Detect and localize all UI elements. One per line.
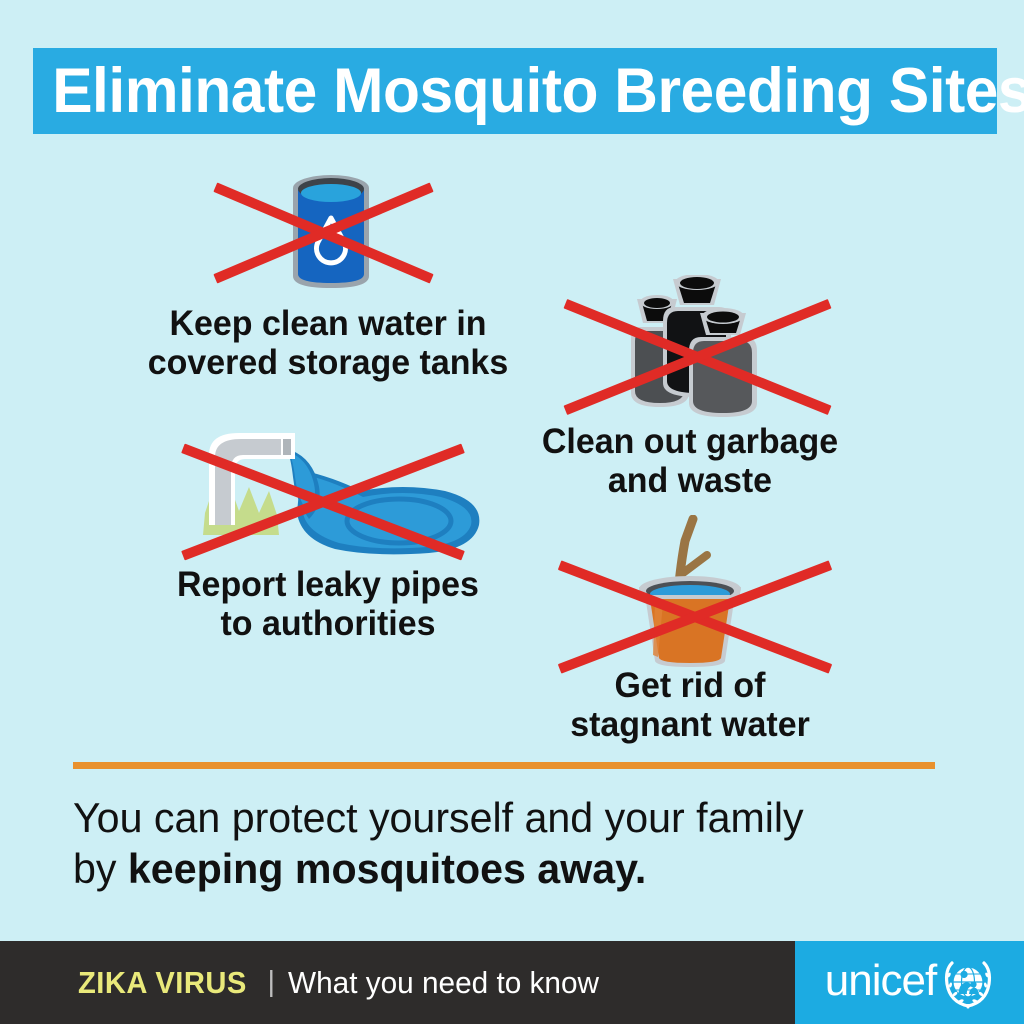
message-line-2-bold: keeping mosquitoes away.: [128, 845, 646, 892]
tip-caption: Keep clean water in covered storage tank…: [134, 304, 522, 382]
unicef-logo[interactable]: unicef: [795, 941, 1024, 1024]
footer-campaign-label: ZIKA VIRUS: [78, 965, 247, 1001]
section-divider: [73, 762, 935, 769]
tip-stagnant-water: Get rid of stagnant water: [490, 515, 890, 744]
page-title: Eliminate Mosquito Breeding Sites: [33, 60, 1024, 123]
footer-tagline: What you need to know: [288, 965, 599, 1001]
infographic-canvas: Eliminate Mosquito Breeding Sites: [0, 0, 1024, 1024]
bucket-stagnant-water-icon: [605, 515, 775, 670]
footer-left-section: ZIKA VIRUS | What you need to know: [0, 941, 795, 1024]
tip-caption: Clean out garbage and waste: [496, 422, 884, 500]
leaky-pipe-icon: [183, 425, 483, 565]
title-banner: Eliminate Mosquito Breeding Sites: [33, 48, 997, 134]
tip-water-tank: Keep clean water in covered storage tank…: [128, 160, 528, 382]
unicef-wordmark: unicef: [825, 956, 936, 1006]
tip-leaky-pipe: Report leaky pipes to authorities: [128, 425, 528, 643]
tip-garbage: Clean out garbage and waste: [490, 275, 890, 500]
tip-caption: Report leaky pipes to authorities: [134, 565, 522, 643]
footer-separator: |: [268, 966, 276, 999]
message-line-1: You can protect yourself and your family: [73, 794, 804, 841]
message-line-2-prefix: by: [73, 845, 128, 892]
garbage-bags-icon: [585, 275, 795, 420]
tip-caption: Get rid of stagnant water: [496, 666, 884, 744]
footer-bar: ZIKA VIRUS | What you need to know unice…: [0, 941, 1024, 1024]
unicef-emblem-icon: [942, 958, 994, 1010]
closing-message: You can protect yourself and your family…: [73, 792, 955, 894]
water-storage-tank-icon: [271, 160, 391, 300]
